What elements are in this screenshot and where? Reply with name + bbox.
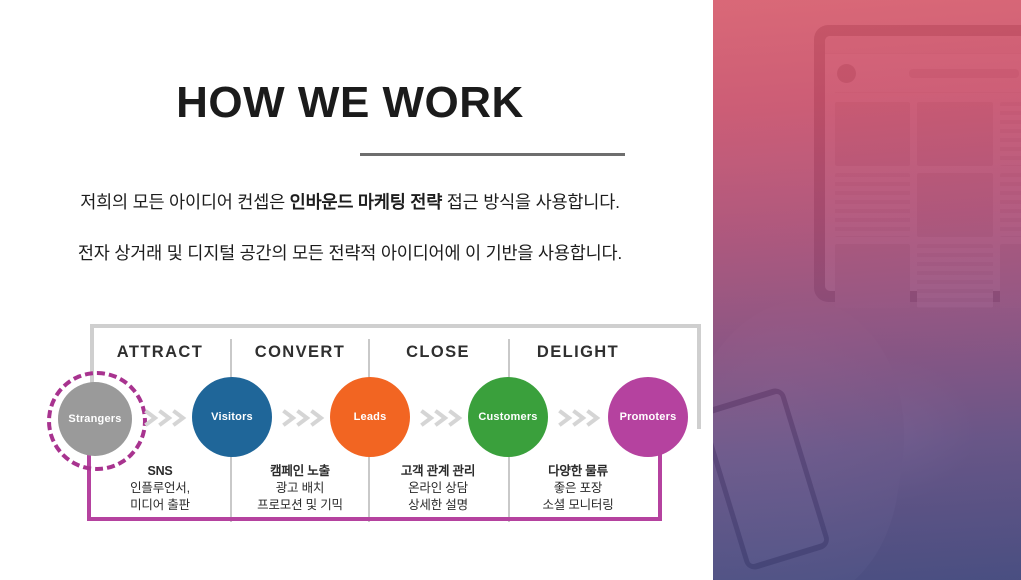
node-visitors[interactable]: Visitors bbox=[192, 377, 272, 457]
paragraph-1-prefix: 저희의 모든 아이디어 컨셉은 bbox=[80, 192, 289, 212]
note-convert: 캠페인 노출 광고 배치 프로모션 및 기믹 bbox=[225, 463, 375, 514]
node-strangers[interactable]: Strangers bbox=[58, 382, 132, 456]
note-attract-line3: 미디어 출판 bbox=[85, 497, 235, 514]
stage-label-delight: DELIGHT bbox=[508, 343, 648, 362]
chevron-group-icon bbox=[282, 409, 328, 427]
loopback-bottom-segment bbox=[87, 517, 662, 521]
note-close-line2: 온라인 상담 bbox=[363, 480, 513, 497]
note-convert-heading: 캠페인 노출 bbox=[225, 463, 375, 480]
hero-photo-panel bbox=[713, 0, 1021, 580]
note-attract-heading: SNS bbox=[85, 463, 235, 480]
intro-paragraph-2: 전자 상거래 및 디지털 공간의 모든 전략적 아이디어에 이 기반을 사용합니… bbox=[0, 240, 700, 265]
chevron-group-icon bbox=[144, 409, 190, 427]
inbound-funnel-diagram: ATTRACT CONVERT CLOSE DELIGHT Strangers … bbox=[50, 315, 690, 545]
note-close-heading: 고객 관계 관리 bbox=[363, 463, 513, 480]
note-convert-line2: 광고 배치 bbox=[225, 480, 375, 497]
paragraph-1-suffix: 접근 방식을 사용합니다. bbox=[442, 192, 620, 212]
note-delight-line3: 소셜 모니터링 bbox=[503, 497, 653, 514]
chevron-group-icon bbox=[420, 409, 466, 427]
node-customers[interactable]: Customers bbox=[468, 377, 548, 457]
note-convert-line3: 프로모션 및 기믹 bbox=[225, 497, 375, 514]
paragraph-1-emphasis: 인바운드 마케팅 전략 bbox=[290, 192, 442, 212]
stage-label-attract: ATTRACT bbox=[90, 343, 230, 362]
bracket-right-edge bbox=[697, 324, 701, 429]
note-delight-line2: 좋은 포장 bbox=[503, 480, 653, 497]
node-promoters[interactable]: Promoters bbox=[608, 377, 688, 457]
stage-label-close: CLOSE bbox=[368, 343, 508, 362]
note-attract: SNS 인플루언서, 미디어 출판 bbox=[85, 463, 235, 514]
bracket-top-bar bbox=[90, 324, 701, 328]
node-leads[interactable]: Leads bbox=[330, 377, 410, 457]
note-attract-line2: 인플루언서, bbox=[85, 480, 235, 497]
page-title: HOW WE WORK bbox=[0, 78, 700, 128]
intro-paragraph-1: 저희의 모든 아이디어 컨셉은 인바운드 마케팅 전략 접근 방식을 사용합니다… bbox=[0, 189, 700, 214]
title-underline bbox=[360, 153, 625, 156]
note-close-line3: 상세한 설명 bbox=[363, 497, 513, 514]
stage-label-convert: CONVERT bbox=[230, 343, 370, 362]
note-close: 고객 관계 관리 온라인 상담 상세한 설명 bbox=[363, 463, 513, 514]
chevron-group-icon bbox=[558, 409, 604, 427]
gradient-overlay bbox=[713, 0, 1021, 580]
note-delight: 다양한 물류 좋은 포장 소셜 모니터링 bbox=[503, 463, 653, 514]
note-delight-heading: 다양한 물류 bbox=[503, 463, 653, 480]
